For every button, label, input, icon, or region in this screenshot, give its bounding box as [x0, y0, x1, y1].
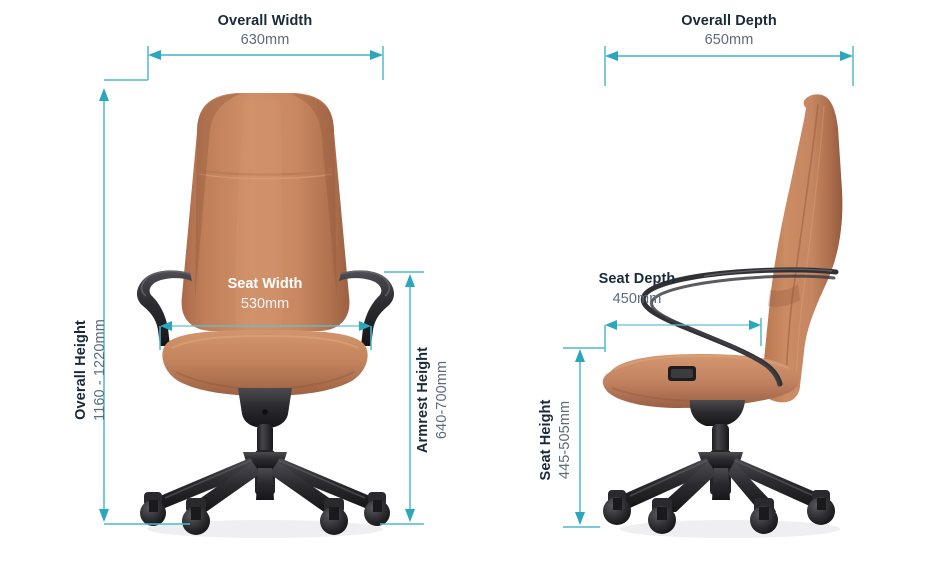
dimension-diagram-canvas: Overall Width 630mm Overall Height 1160 …	[0, 0, 940, 574]
overall-depth-title: Overall Depth	[681, 13, 777, 29]
dimension-annotations: Overall Width 630mm Overall Height 1160 …	[0, 0, 940, 574]
dimension-overall-depth: Overall Depth 650mm	[605, 13, 853, 86]
dimension-seat-width: Seat Width 530mm	[160, 276, 371, 350]
overall-height-title: Overall Height	[73, 320, 89, 420]
seat-height-title: Seat Height	[538, 400, 554, 481]
overall-width-title: Overall Width	[218, 13, 313, 29]
overall-height-value: 1160 - 1220mm	[92, 319, 108, 421]
seat-depth-value: 450mm	[613, 291, 662, 307]
seat-height-value: 445-505mm	[557, 401, 573, 479]
dimension-overall-width: Overall Width 630mm	[148, 13, 383, 80]
overall-depth-value: 650mm	[705, 32, 754, 48]
overall-width-value: 630mm	[241, 32, 290, 48]
dimension-seat-depth: Seat Depth 450mm	[599, 271, 761, 352]
seat-depth-title: Seat Depth	[599, 271, 676, 287]
dimension-armrest-height: Armrest Height 640-700mm	[380, 272, 450, 524]
seat-width-value: 530mm	[241, 296, 289, 312]
dimension-overall-height: Overall Height 1160 - 1220mm	[73, 80, 190, 524]
armrest-height-title: Armrest Height	[415, 347, 431, 453]
seat-width-title: Seat Width	[228, 276, 303, 292]
armrest-height-value: 640-700mm	[434, 361, 450, 439]
dimension-seat-height: Seat Height 445-505mm	[538, 348, 605, 527]
